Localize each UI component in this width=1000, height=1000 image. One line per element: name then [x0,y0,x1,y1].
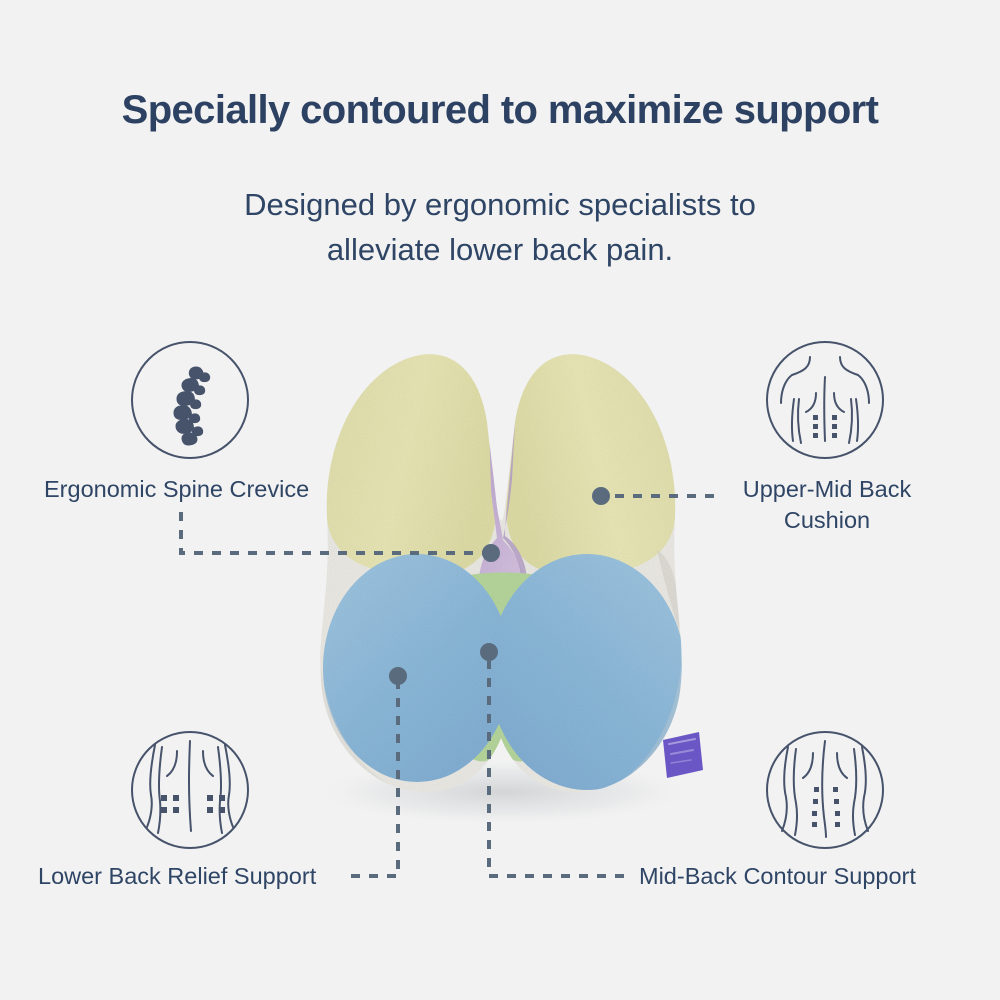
upper-wing-left [327,354,496,575]
subtitle-line-2: alleviate lower back pain. [0,228,1000,273]
pressure-dots [812,787,840,827]
upper-back-icon [766,341,884,459]
spine-icon [131,341,249,459]
feature-label-lower-back-relief-support: Lower Back Relief Support [38,861,316,892]
feature-label-mid-back-contour-support: Mid-Back Contour Support [639,861,916,892]
page-title: Specially contoured to maximize support [0,88,1000,132]
product-cushion-illustration [265,330,735,830]
subtitle-line-1: Designed by ergonomic specialists to [0,183,1000,228]
feature-icon-ergonomic-spine-crevice[interactable] [131,341,249,459]
lower-lobe-left [323,554,511,782]
feature-icon-lower-back-relief-support[interactable] [131,731,249,849]
feature-icon-mid-back-contour-support[interactable] [766,731,884,849]
feature-label-ergonomic-spine-crevice: Ergonomic Spine Crevice [44,474,309,505]
brand-tag [663,732,703,778]
page-subtitle: Designed by ergonomic specialists to all… [0,183,1000,273]
infographic-stage: Specially contoured to maximize support … [0,0,1000,1000]
lower-lobe-right [489,554,685,790]
label-line-1: Upper-Mid Back [722,474,932,505]
feature-icon-upper-mid-back-cushion[interactable] [766,341,884,459]
mid-back-icon [766,731,884,849]
pressure-dots [161,795,225,813]
feature-label-upper-mid-back-cushion: Upper-Mid Back Cushion [722,474,932,537]
upper-wing-right [506,354,675,575]
lower-back-icon [131,731,249,849]
label-line-2: Cushion [722,505,932,536]
